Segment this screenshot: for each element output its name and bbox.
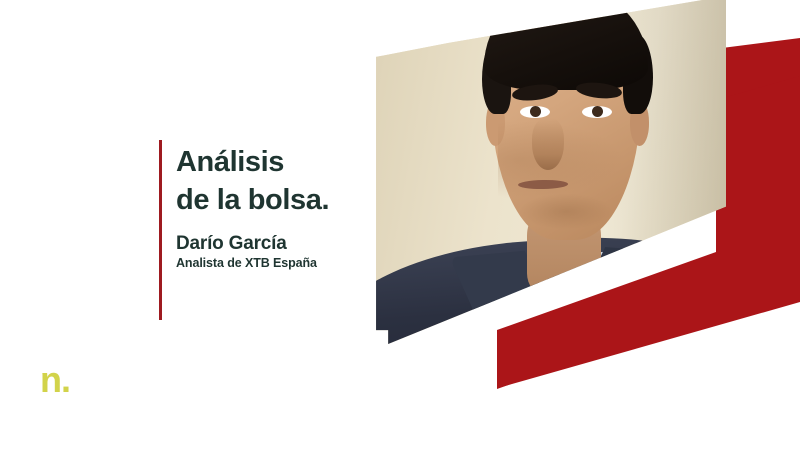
hair [484,0,648,90]
nose [532,118,564,170]
newtral-logo-icon: n. [40,362,70,398]
title-block: Análisis de la bolsa. Darío García Anali… [176,144,436,270]
video-thumbnail-slide: Análisis de la bolsa. Darío García Anali… [0,0,800,450]
page-title: Análisis de la bolsa. [176,144,436,219]
cheek-shading [498,114,640,204]
chin-shading [520,194,613,229]
presenter-role: Analista de XTB España [176,256,436,270]
title-accent-bar [159,140,162,320]
eye-left [520,106,551,119]
necktie [540,274,576,344]
presenter-name: Darío García [176,233,436,255]
